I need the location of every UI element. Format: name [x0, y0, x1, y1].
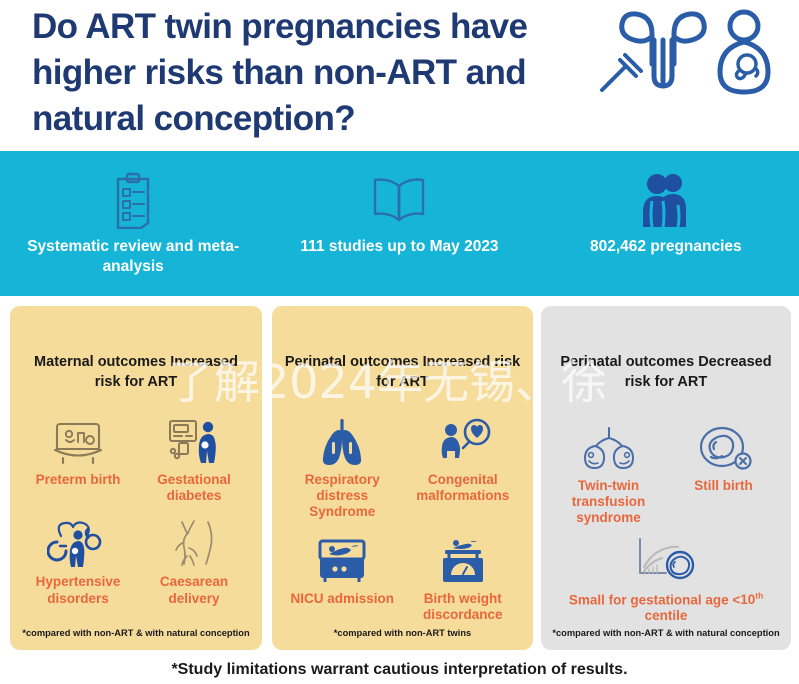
item-hypertensive-disorders: Hypertensive disorders: [20, 512, 136, 606]
incubator-bassinet-icon: [22, 410, 134, 466]
item-label-suffix: centile: [645, 608, 688, 623]
item-twin-twin-transfusion-syndrome: Twin-twin transfusion syndrome: [551, 416, 666, 527]
card-items: Preterm birth: [20, 410, 252, 615]
item-caesarean-delivery: Caesarean delivery: [136, 512, 252, 606]
stats-band: Systematic review and meta-analysis 111 …: [0, 151, 799, 296]
card-title: Perinatal outcomes Decreased risk for AR…: [551, 352, 781, 392]
card-perinatal-outcomes-decreased: Perinatal outcomes Decreased risk for AR…: [541, 306, 791, 650]
card-note: *compared with non-ART & with natural co…: [541, 628, 791, 638]
two-people-icon: [533, 169, 799, 231]
card-perinatal-outcomes-increased: Perinatal outcomes Increased risk for AR…: [272, 306, 533, 650]
uterus-syringe-icon: [602, 14, 704, 90]
fetus-cross-icon: [668, 416, 779, 472]
footer-note: *Study limitations warrant cautious inte…: [0, 656, 799, 684]
stat-systematic-review: Systematic review and meta-analysis: [0, 151, 266, 296]
surgical-incision-icon: [138, 512, 250, 568]
stat-label: 111 studies up to May 2023: [266, 237, 532, 257]
card-title: Perinatal outcomes Increased risk for AR…: [282, 352, 523, 392]
item-small-for-gestational-age: Small for gestational age <10th centile: [551, 529, 781, 625]
card-maternal-outcomes-increased: Maternal outcomes Increased risk for ART: [10, 306, 262, 650]
glucose-meter-pregnant-woman-icon: [138, 410, 250, 466]
item-label: Hypertensive disorders: [22, 574, 134, 606]
baby-scale-icon: [405, 529, 522, 585]
item-label: Caesarean delivery: [138, 574, 250, 606]
item-nicu-admission: NICU admission: [282, 529, 403, 623]
twin-fetuses-placenta-icon: [553, 416, 664, 472]
infographic-page: Do ART twin pregnancies have higher risk…: [0, 0, 799, 684]
blood-pressure-cuff-pregnant-woman-icon: [22, 512, 134, 568]
open-book-icon: [266, 169, 532, 231]
header: Do ART twin pregnancies have higher risk…: [0, 0, 799, 150]
stat-studies-count: 111 studies up to May 2023: [266, 151, 532, 296]
clipboard-checklist-icon: [0, 169, 266, 231]
nicu-incubator-icon: [284, 529, 401, 585]
baby-heart-icon: [405, 410, 522, 466]
card-title: Maternal outcomes Increased risk for ART: [20, 352, 252, 392]
item-label: Small for gestational age <10th centile: [553, 591, 779, 625]
item-gestational-diabetes: Gestational diabetes: [136, 410, 252, 504]
card-items: Respiratory distress Syndrome: [282, 410, 523, 631]
item-label: Gestational diabetes: [138, 472, 250, 504]
item-label: Congenital malformations: [405, 472, 522, 504]
item-label: Respiratory distress Syndrome: [284, 472, 401, 521]
stat-label: 802,462 pregnancies: [533, 237, 799, 257]
item-label: NICU admission: [284, 591, 401, 607]
item-label: Preterm birth: [22, 472, 134, 488]
pregnant-woman-fetus-icon: [720, 12, 768, 92]
item-label: Still birth: [668, 478, 779, 494]
item-still-birth: Still birth: [666, 416, 781, 527]
outcome-cards: Maternal outcomes Increased risk for ART: [0, 306, 799, 652]
item-label: Birth weight discordance: [405, 591, 522, 623]
lungs-icon: [284, 410, 401, 466]
card-note: *compared with non-ART twins: [272, 628, 533, 638]
stat-pregnancies-count: 802,462 pregnancies: [533, 151, 799, 296]
item-label-text: Small for gestational age <: [569, 592, 740, 607]
item-respiratory-distress-syndrome: Respiratory distress Syndrome: [282, 410, 403, 521]
item-label-sup: 10th: [740, 592, 763, 607]
page-title: Do ART twin pregnancies have higher risk…: [32, 4, 602, 143]
header-icon-group: [592, 6, 782, 98]
item-birth-weight-discordance: Birth weight discordance: [403, 529, 524, 623]
card-items: Twin-twin transfusion syndrome St: [551, 416, 781, 626]
item-congenital-malformations: Congenital malformations: [403, 410, 524, 521]
stat-label: Systematic review and meta-analysis: [0, 237, 266, 277]
growth-chart-fetus-icon: [553, 529, 779, 585]
card-note: *compared with non-ART & with natural co…: [10, 628, 262, 638]
item-label: Twin-twin transfusion syndrome: [553, 478, 664, 527]
item-preterm-birth: Preterm birth: [20, 410, 136, 504]
